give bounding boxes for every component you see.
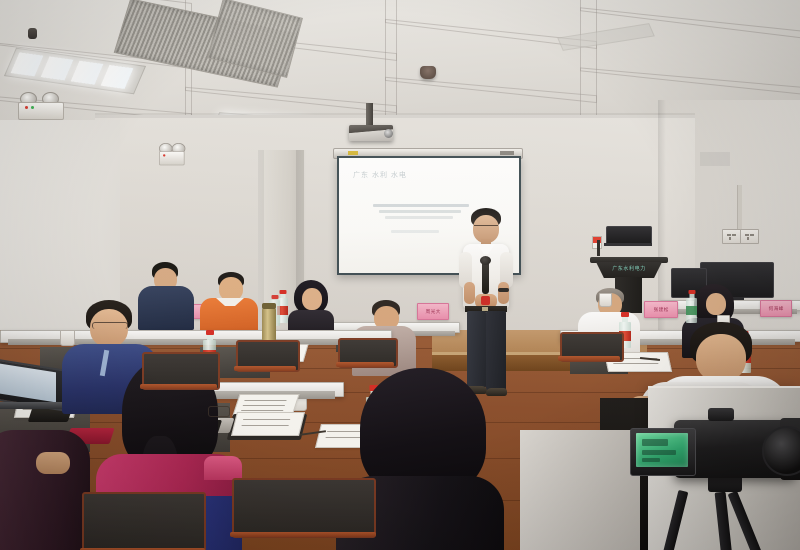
laptop-base: [0, 402, 67, 409]
emergency-light-body: [18, 102, 64, 120]
video-camera-on-tripod: [612, 408, 800, 550]
water-bottle: [686, 290, 697, 323]
chair: [338, 338, 394, 364]
conference-room-photo: 广东 水利 水电 广东水利电力: [0, 0, 800, 550]
sprinkler-head: [28, 28, 37, 39]
tripod-leg: [662, 490, 689, 550]
chair: [560, 332, 620, 358]
smoke-detector-icon: [420, 66, 436, 79]
slide-heading-text: 广东 水利 水电: [353, 170, 407, 180]
name-card-text: 何海峰: [768, 305, 783, 311]
thermos-lid: [262, 303, 276, 309]
chair: [142, 352, 216, 386]
head: [706, 293, 726, 315]
name-card-text: 周光大: [425, 308, 440, 314]
hand: [36, 452, 70, 474]
camera-lcd-screen: [636, 433, 688, 467]
attendee-maroon-top: [0, 430, 90, 550]
status-led: [31, 106, 34, 109]
paper-cup: [599, 293, 612, 307]
name-card: 何海峰: [760, 300, 792, 317]
name-card-text: 张建松: [653, 306, 668, 312]
wristwatch-icon: [498, 288, 509, 292]
head: [302, 288, 322, 310]
presenter-forearm-right: [498, 282, 509, 304]
presenter-forearm-left: [464, 282, 475, 304]
wall-power-outlet[interactable]: [722, 229, 741, 244]
handheld-microphone: [482, 260, 489, 294]
camera-microphone: [708, 408, 734, 421]
projector-lens-icon: [384, 129, 393, 138]
emergency-light-left: [18, 92, 62, 122]
emergency-light-body: [159, 151, 185, 165]
status-led: [25, 106, 28, 109]
wall-power-outlet[interactable]: [740, 229, 759, 244]
wall-conduit: [737, 185, 742, 229]
chair: [236, 340, 296, 368]
attendee-orange-shirt: [200, 272, 258, 332]
tripod-leg: [728, 491, 763, 550]
torso: [0, 430, 90, 550]
glasses-icon: [92, 322, 128, 329]
name-card: 周光大: [417, 303, 449, 320]
clipboard-paper: [231, 412, 305, 436]
glasses-icon: [208, 406, 230, 417]
wall-detail: [700, 152, 730, 166]
jacket-collar: [204, 456, 242, 480]
status-led: [163, 154, 165, 156]
attendee-dark-hair: [288, 280, 334, 336]
chair: [232, 478, 372, 534]
emergency-light-center: [159, 143, 183, 161]
chair: [82, 492, 202, 550]
wall-ceiling-joint: [95, 113, 695, 118]
podium-logo-text: 广东水利电力: [604, 265, 654, 272]
glasses-icon: [474, 225, 498, 230]
microphone-band: [481, 296, 490, 305]
head: [696, 334, 746, 382]
name-card: 张建松: [644, 301, 678, 318]
microphone-head-icon: [480, 256, 491, 265]
